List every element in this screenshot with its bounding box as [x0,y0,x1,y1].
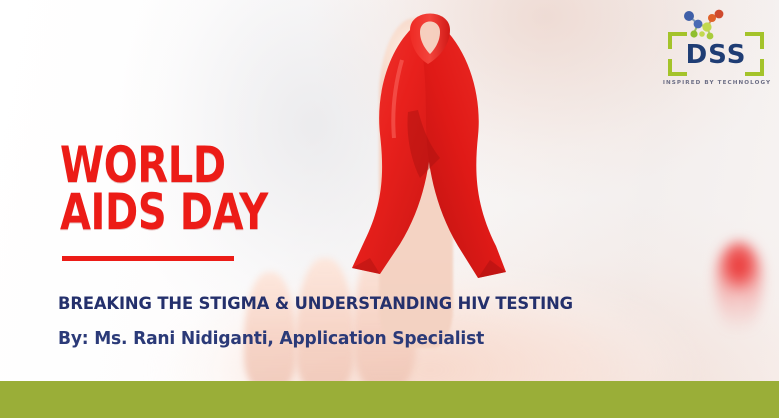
headline-underline [62,256,234,261]
headline-line-1: WORLD [60,142,324,189]
dss-logo: DSS INSPIRED BY TECHNOLOGY [662,8,774,96]
page-title: WORLD AIDS DAY [60,142,390,236]
bottom-bar [0,381,779,418]
blurred-ribbon-icon [716,242,762,332]
logo-wordmark: DSS [662,40,770,70]
byline: By: Ms. Rani Nidiganti, Application Spec… [58,328,484,349]
world-aids-day-banner: WORLD AIDS DAY BREAKING THE STIGMA & UND… [0,0,779,418]
subheadline: BREAKING THE STIGMA & UNDERSTANDING HIV … [58,294,573,314]
headline-line-2: AIDS DAY [60,189,324,236]
logo-tagline: INSPIRED BY TECHNOLOGY [662,80,772,86]
